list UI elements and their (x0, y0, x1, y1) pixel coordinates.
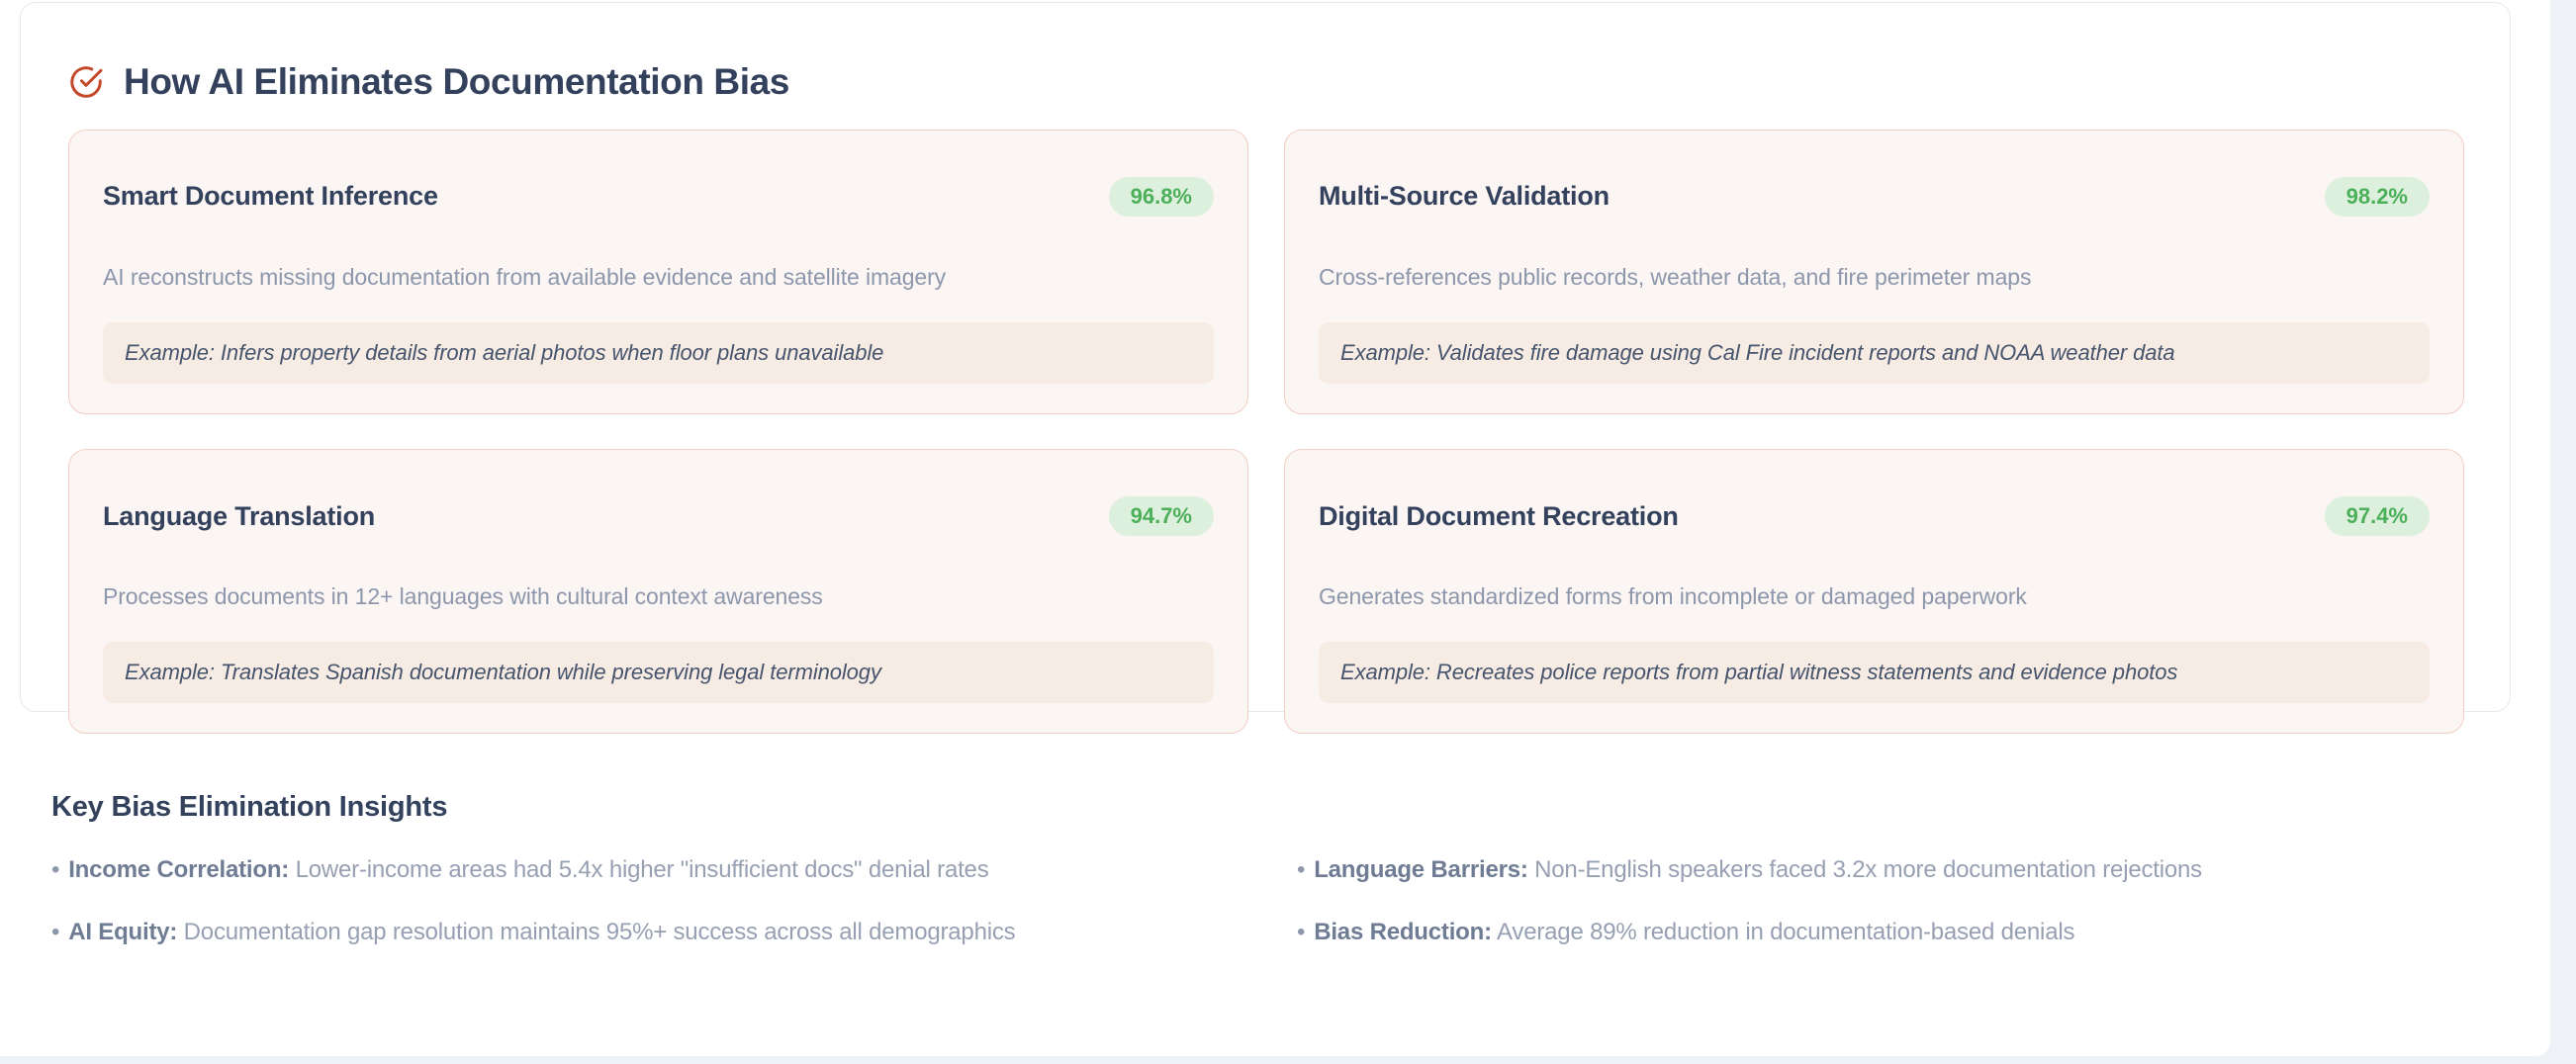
section-header: How AI Eliminates Documentation Bias (21, 3, 2510, 125)
insight-label: Bias Reduction: (1314, 919, 1492, 945)
page-bottom-margin (0, 1056, 2576, 1064)
card-example: Example: Infers property details from ae… (103, 322, 1214, 385)
insight-text: Documentation gap resolution maintains 9… (184, 919, 1016, 945)
insight-item: • Bias Reduction: Average 89% reduction … (1297, 918, 2495, 947)
bullet-icon: • (51, 921, 59, 944)
insight-label: AI Equity: (68, 919, 177, 945)
score-badge: 94.7% (1109, 496, 1214, 536)
card-title: Language Translation (103, 502, 375, 532)
insight-item: • Income Correlation: Lower-income areas… (51, 855, 1249, 885)
documentation-bias-section: How AI Eliminates Documentation Bias Sma… (20, 2, 2511, 712)
card-example: Example: Validates fire damage using Cal… (1319, 322, 2430, 385)
card-title: Digital Document Recreation (1319, 502, 1679, 532)
card-description: Cross-references public records, weather… (1319, 262, 2430, 293)
card-example: Example: Translates Spanish documentatio… (103, 642, 1214, 704)
insight-text: Non-English speakers faced 3.2x more doc… (1534, 856, 2202, 883)
insight-label: Language Barriers: (1314, 856, 1527, 883)
card-title: Smart Document Inference (103, 182, 438, 212)
card-header: Smart Document Inference 96.8% (103, 160, 1214, 234)
card-header: Language Translation 94.7% (103, 480, 1214, 554)
card-header: Digital Document Recreation 97.4% (1319, 480, 2430, 554)
insight-item: • Language Barriers: Non-English speaker… (1297, 855, 2495, 885)
insight-label: Income Correlation: (68, 856, 289, 883)
bullet-icon: • (1297, 921, 1305, 944)
feature-card[interactable]: Multi-Source Validation 98.2% Cross-refe… (1284, 130, 2464, 414)
card-description: Generates standardized forms from incomp… (1319, 581, 2430, 612)
page-right-margin (2550, 0, 2576, 1064)
key-insights-section: Key Bias Elimination Insights • Income C… (51, 791, 2495, 947)
page-title: How AI Eliminates Documentation Bias (124, 63, 789, 100)
card-description: AI reconstructs missing documentation fr… (103, 262, 1214, 293)
card-header: Multi-Source Validation 98.2% (1319, 160, 2430, 234)
card-title: Multi-Source Validation (1319, 182, 1610, 212)
insight-text: Lower-income areas had 5.4x higher "insu… (296, 856, 989, 883)
insight-item: • AI Equity: Documentation gap resolutio… (51, 918, 1249, 947)
insight-text: Average 89% reduction in documentation-b… (1497, 919, 2074, 945)
insights-title: Key Bias Elimination Insights (51, 791, 2495, 824)
bullet-icon: • (1297, 858, 1305, 882)
score-badge: 98.2% (2325, 177, 2430, 217)
circle-check-icon (68, 62, 104, 100)
bullet-icon: • (51, 858, 59, 882)
score-badge: 96.8% (1109, 177, 1214, 217)
feature-card[interactable]: Language Translation 94.7% Processes doc… (68, 449, 1248, 734)
card-description: Processes documents in 12+ languages wit… (103, 581, 1214, 612)
insights-grid: • Income Correlation: Lower-income areas… (51, 855, 2495, 947)
feature-card-grid: Smart Document Inference 96.8% AI recons… (68, 130, 2464, 734)
card-example: Example: Recreates police reports from p… (1319, 642, 2430, 704)
score-badge: 97.4% (2325, 496, 2430, 536)
feature-card[interactable]: Digital Document Recreation 97.4% Genera… (1284, 449, 2464, 734)
feature-card[interactable]: Smart Document Inference 96.8% AI recons… (68, 130, 1248, 414)
page-panel: How AI Eliminates Documentation Bias Sma… (0, 0, 2550, 1056)
